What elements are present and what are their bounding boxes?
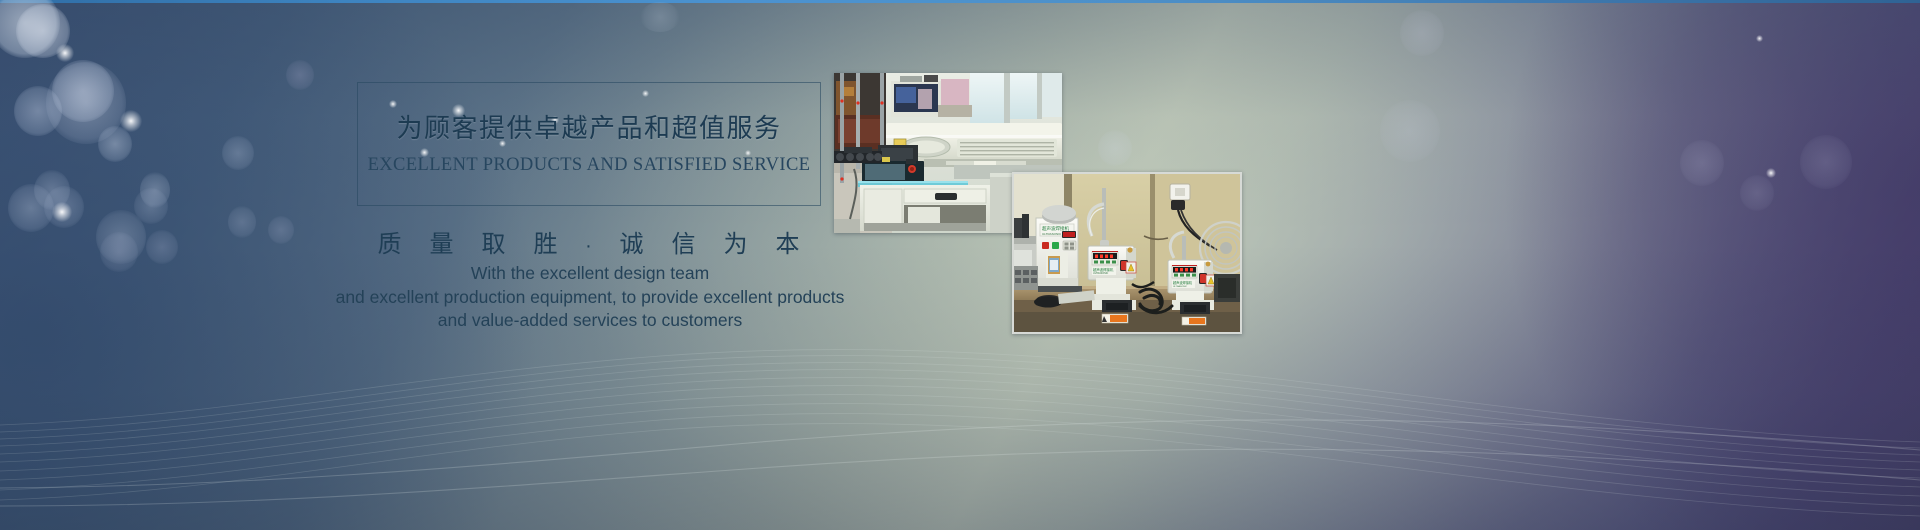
- description-line-3: and value-added services to customers: [240, 309, 940, 333]
- motto-char: 本: [762, 224, 814, 259]
- hero-banner: 为顾客提供卓越产品和超值服务 EXCELLENT PRODUCTS AND SA…: [0, 0, 1920, 530]
- motto-char: 胜: [520, 224, 572, 259]
- banner-content: 为顾客提供卓越产品和超值服务 EXCELLENT PRODUCTS AND SA…: [0, 0, 1920, 530]
- description-paragraph: With the excellent design team and excel…: [240, 262, 940, 333]
- svg-text:ULTRASONIC: ULTRASONIC: [1093, 272, 1109, 275]
- motto-char: 诚: [606, 224, 658, 259]
- svg-text:ULTRASONIC: ULTRASONIC: [1173, 285, 1187, 288]
- slogan-title-en: EXCELLENT PRODUCTS AND SATISFIED SERVICE: [357, 155, 821, 176]
- slogan-title-cn: 为顾客提供卓越产品和超值服务: [357, 108, 821, 145]
- description-line-1: With the excellent design team: [240, 262, 940, 286]
- company-motto: 质量取胜·诚信为本: [357, 224, 821, 259]
- description-line-2: and excellent production equipment, to p…: [240, 286, 940, 310]
- motto-char: 取: [468, 224, 520, 259]
- svg-text:超声波焊接机: 超声波焊接机: [1173, 280, 1193, 285]
- motto-char: 信: [658, 224, 710, 259]
- motto-char: 为: [710, 224, 762, 259]
- svg-text:超声波焊接机: 超声波焊接机: [1042, 225, 1069, 232]
- motto-char: 质: [364, 224, 416, 259]
- motto-char: 量: [416, 224, 468, 259]
- photo-press-machines: 超声波焊接机 ULTRASONIC WELDER: [1012, 172, 1242, 334]
- motto-separator: ·: [572, 235, 606, 258]
